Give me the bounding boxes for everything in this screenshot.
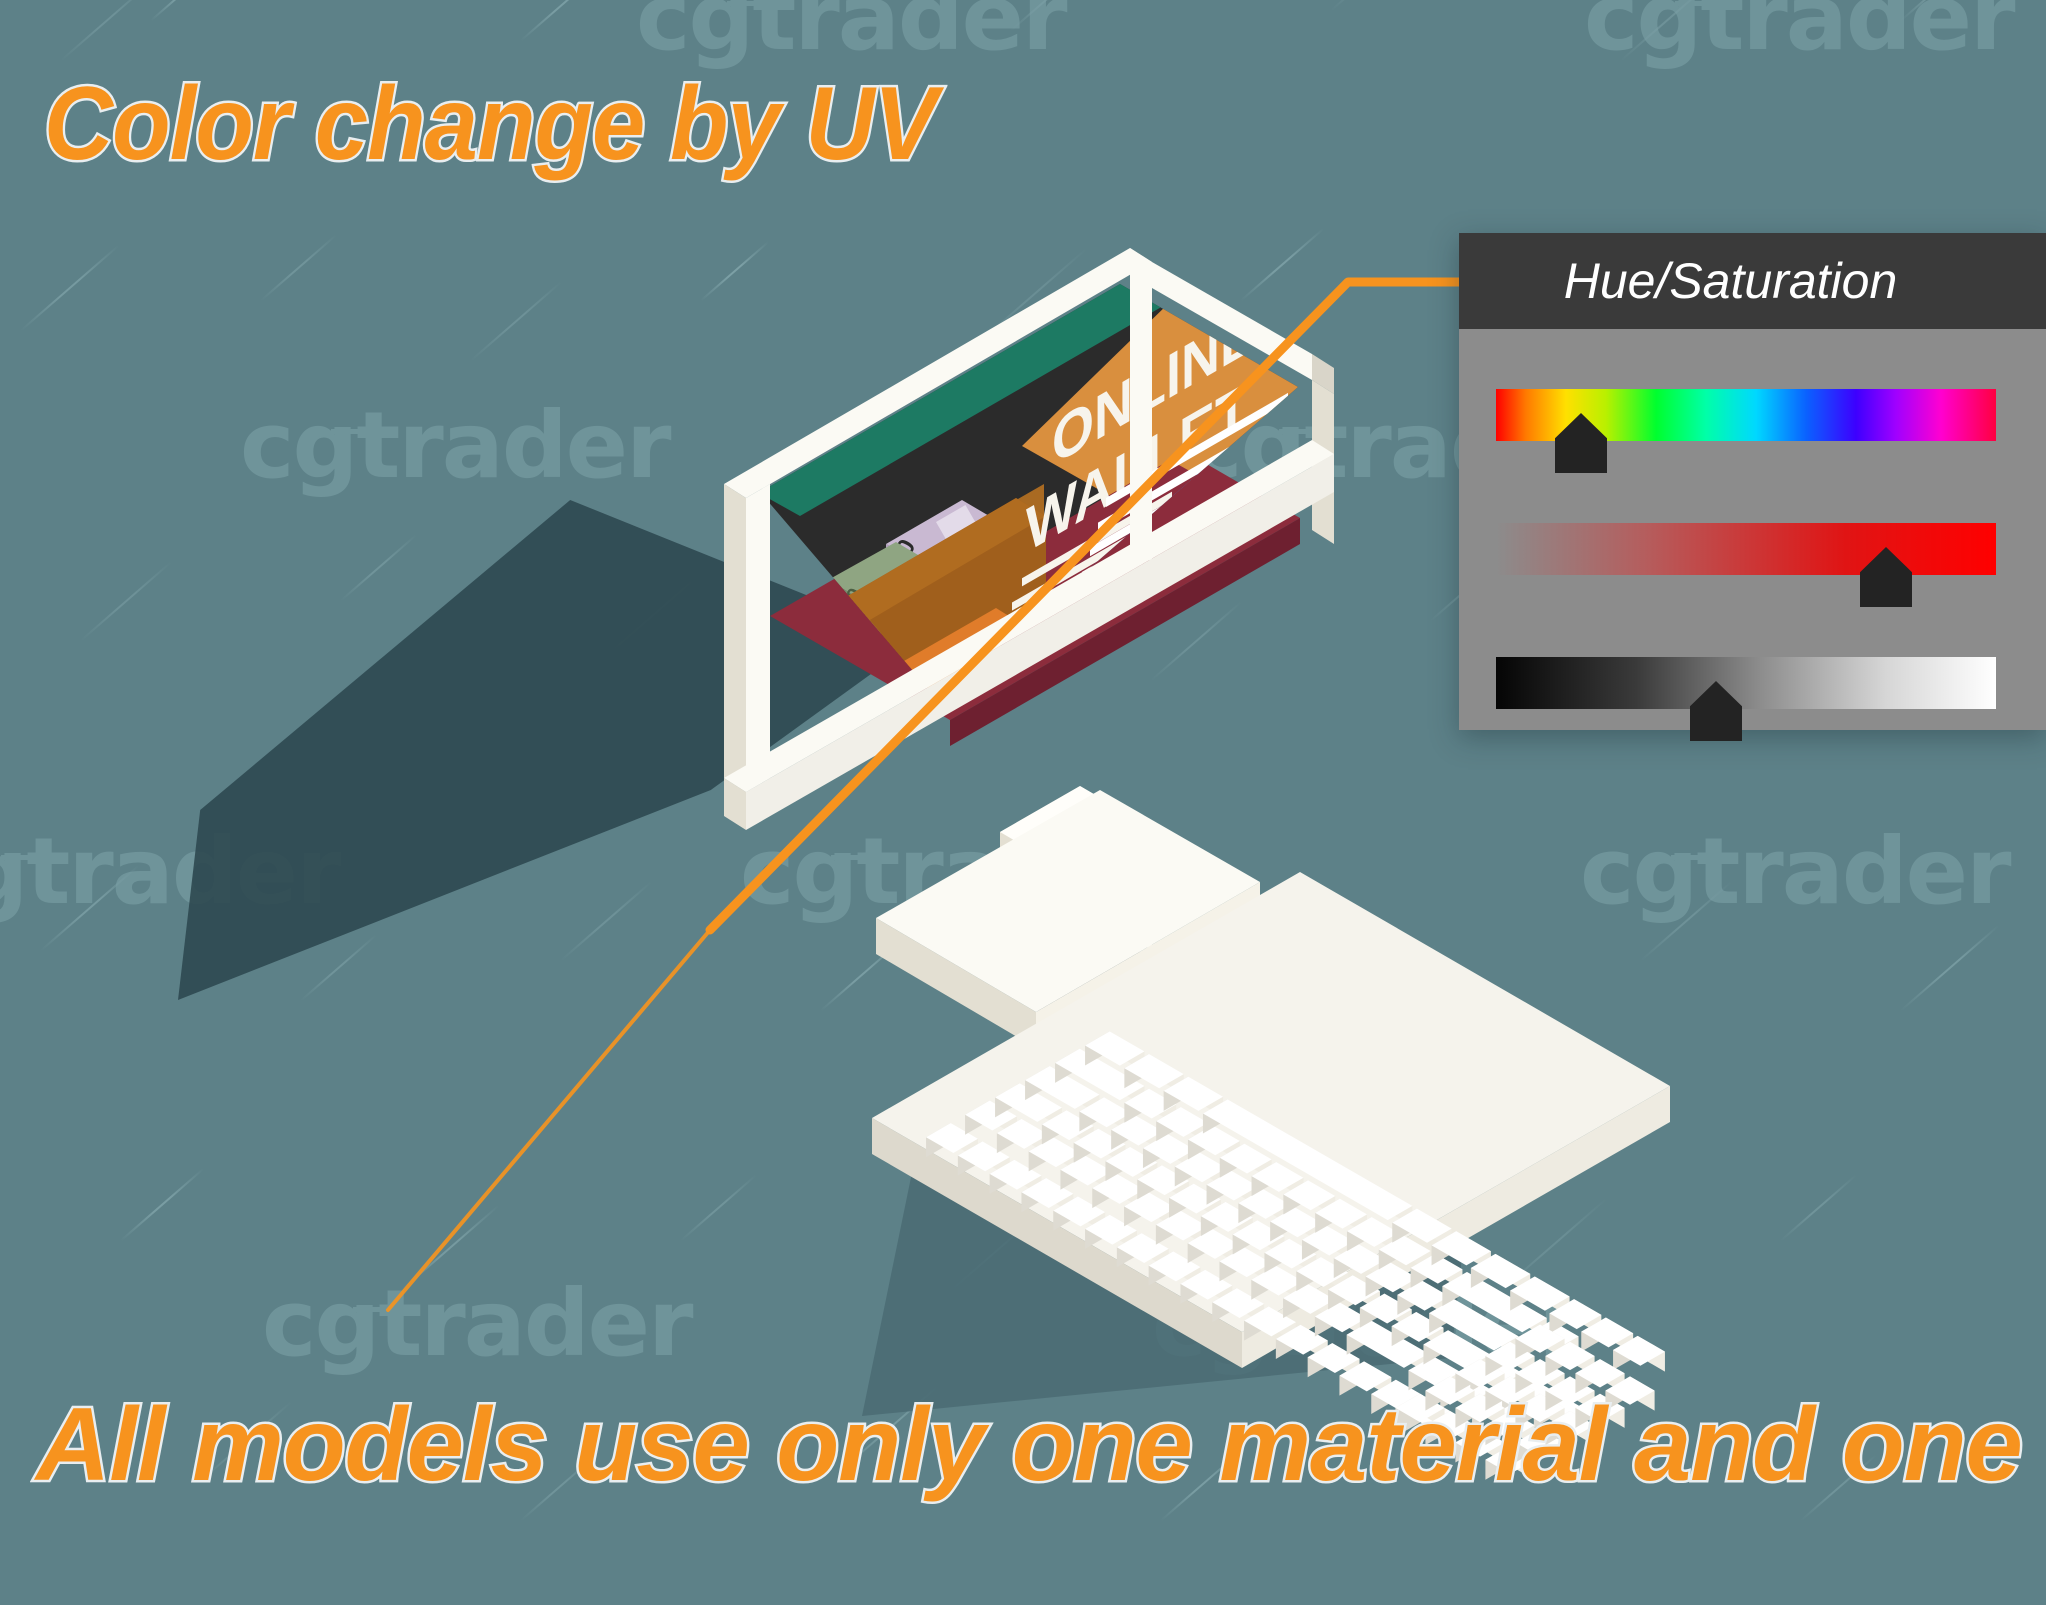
cgtrader-watermark: cgtrader [1584, 0, 2013, 71]
streak [680, 1174, 757, 1241]
hue-slider[interactable] [1496, 389, 1996, 441]
lightness-slider[interactable] [1496, 657, 1996, 709]
leader-line-thin [388, 930, 710, 1310]
streak [40, 865, 139, 952]
monitor-bezel-left-front [746, 484, 770, 792]
lightness-slider-track[interactable] [1496, 657, 1996, 709]
streak [120, 1168, 204, 1242]
isometric-keyboard [870, 820, 1690, 1340]
streak [1330, 0, 1445, 12]
streak [520, 0, 604, 42]
streak [1900, 925, 1999, 1012]
monitor-bezel-right [1130, 248, 1152, 562]
saturation-slider[interactable] [1496, 523, 1996, 575]
streak [1010, 0, 1087, 32]
streak [150, 0, 219, 22]
monitor-bezel-left [724, 484, 746, 792]
illustration-canvas: cgtradercgtradercgtradercgtradercgtrader… [0, 0, 2046, 1605]
streak [340, 534, 417, 601]
streak [760, 0, 859, 2]
footline-text: All models use only one material and one… [36, 1393, 2046, 1497]
streak [400, 1205, 499, 1292]
streak [470, 281, 562, 361]
headline-text: Color change by UV [44, 72, 937, 176]
streak [1780, 1174, 1857, 1241]
hue-saturation-panel-title: Hue/Saturation [1564, 252, 1898, 310]
cgtrader-watermark: cgtrader [240, 392, 669, 499]
streak [1620, 0, 1712, 62]
streak [560, 881, 652, 961]
cgtrader-watermark: cgtrader [262, 1270, 691, 1377]
streak [60, 0, 152, 62]
keyboard-svg [870, 820, 1690, 1340]
cgtrader-watermark: cgtrader [636, 0, 1065, 71]
hue-saturation-panel[interactable]: Hue/Saturation [1459, 233, 2046, 730]
hue-saturation-panel-header: Hue/Saturation [1459, 233, 2046, 329]
streak [1900, 0, 1984, 22]
streak [20, 245, 119, 332]
streak [80, 561, 172, 641]
saturation-slider-track[interactable] [1496, 523, 1996, 575]
streak [260, 234, 337, 301]
